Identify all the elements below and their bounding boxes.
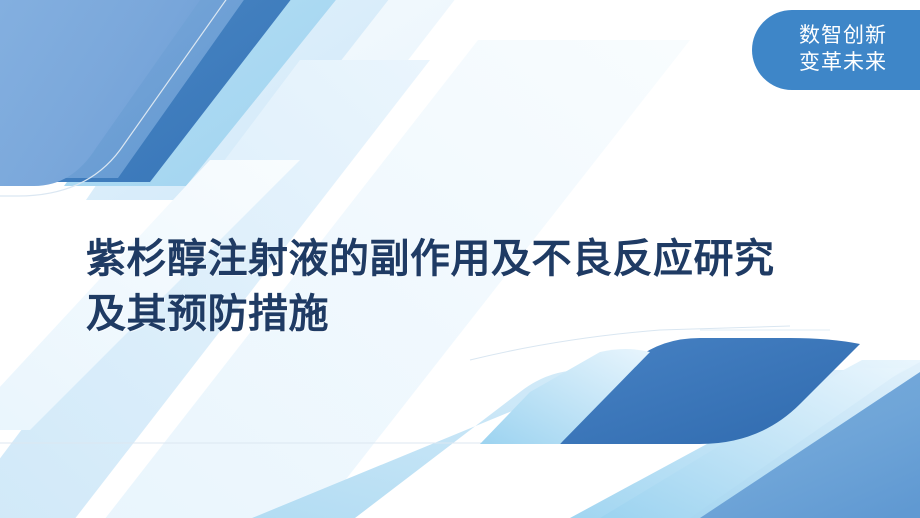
page-title-line-1: 紫杉醇注射液的副作用及不良反应研究	[86, 232, 806, 287]
badge-line-2: 变革未来	[799, 50, 887, 77]
page-title-line-2: 及其预防措施	[86, 287, 806, 342]
slide-canvas: 数智创新 变革未来 紫杉醇注射液的副作用及不良反应研究 及其预防措施	[0, 0, 920, 518]
badge-line-1: 数智创新	[799, 23, 887, 50]
corner-badge: 数智创新 变革未来	[752, 10, 920, 90]
page-title: 紫杉醇注射液的副作用及不良反应研究 及其预防措施	[86, 232, 806, 342]
